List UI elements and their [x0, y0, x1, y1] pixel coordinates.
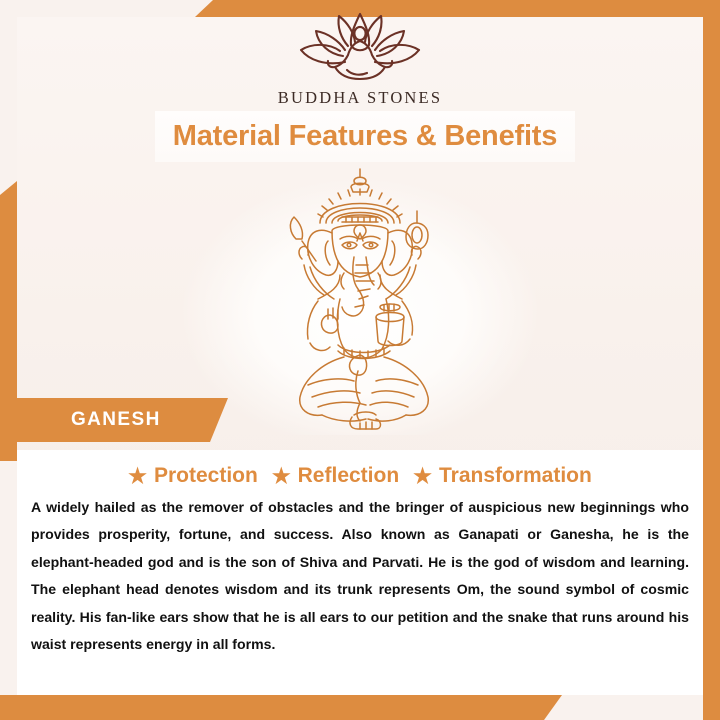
benefit-label: Transformation — [439, 464, 592, 488]
description-paragraph: A widely hailed as the remover of obstac… — [31, 494, 689, 659]
star-icon: ★ — [413, 466, 432, 487]
page-title: Material Features & Benefits — [173, 120, 557, 153]
page-title-band: Material Features & Benefits — [155, 111, 575, 162]
section-banner: GANESH — [0, 398, 228, 442]
poster-root: BUDDHA STONES Material Features & Benefi… — [0, 0, 720, 720]
benefit-item: ★ Protection — [128, 464, 258, 488]
benefit-label: Protection — [154, 464, 258, 488]
description-card: ★ Protection ★ Reflection ★ Transformati… — [17, 450, 703, 695]
star-icon: ★ — [128, 466, 147, 487]
decor-bar-bottom — [0, 695, 562, 720]
benefits-list: ★ Protection ★ Reflection ★ Transformati… — [17, 464, 703, 488]
lotus-meditation-figure-icon — [285, 8, 435, 86]
brand-logo: BUDDHA STONES — [0, 8, 720, 108]
ganesh-deity-line-art-icon — [248, 165, 472, 433]
benefit-label: Reflection — [298, 464, 400, 488]
brand-name: BUDDHA STONES — [278, 88, 442, 108]
section-label: GANESH — [71, 409, 161, 431]
benefit-item: ★ Reflection — [272, 464, 399, 488]
benefit-item: ★ Transformation — [413, 464, 592, 488]
illustration-area — [0, 165, 720, 435]
star-icon: ★ — [272, 466, 291, 487]
